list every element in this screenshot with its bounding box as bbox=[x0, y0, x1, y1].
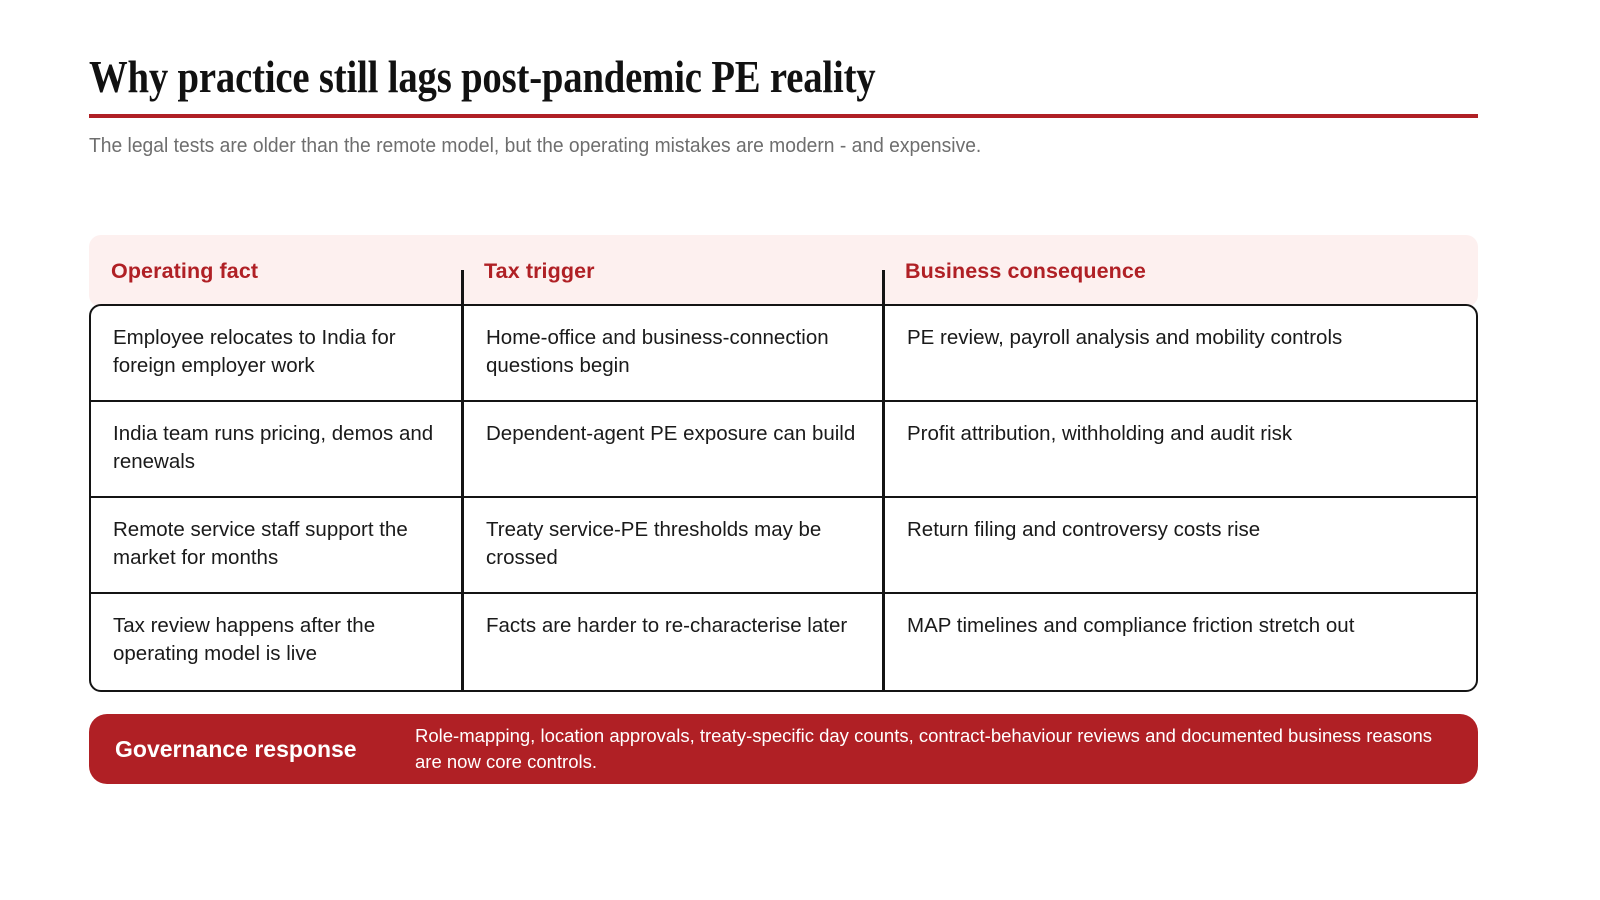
cell-business-consequence: MAP timelines and compliance friction st… bbox=[885, 594, 1480, 658]
cell-operating-fact: India team runs pricing, demos and renew… bbox=[91, 402, 464, 495]
comparison-table: Operating fact Tax trigger Business cons… bbox=[89, 235, 1478, 692]
cell-tax-trigger: Home-office and business-connection ques… bbox=[464, 306, 885, 399]
cell-operating-fact: Tax review happens after the operating m… bbox=[91, 594, 464, 687]
table-row: Remote service staff support the market … bbox=[91, 498, 1476, 594]
governance-response-label: Governance response bbox=[89, 736, 415, 763]
governance-response-text: Role-mapping, location approvals, treaty… bbox=[415, 723, 1478, 774]
page-subtitle: The legal tests are older than the remot… bbox=[89, 133, 1395, 159]
cell-operating-fact: Employee relocates to India for foreign … bbox=[91, 306, 464, 399]
slide-root: Why practice still lags post-pandemic PE… bbox=[0, 0, 1600, 900]
table-row: Employee relocates to India for foreign … bbox=[91, 306, 1476, 402]
column-header-operating-fact: Operating fact bbox=[89, 259, 462, 284]
cell-tax-trigger: Facts are harder to re-characterise late… bbox=[464, 594, 885, 658]
table-row: India team runs pricing, demos and renew… bbox=[91, 402, 1476, 498]
column-header-tax-trigger: Tax trigger bbox=[462, 259, 883, 284]
title-divider-rule bbox=[89, 114, 1478, 118]
table-body: Employee relocates to India for foreign … bbox=[89, 304, 1478, 692]
table-row: Tax review happens after the operating m… bbox=[91, 594, 1476, 690]
table-header-row: Operating fact Tax trigger Business cons… bbox=[89, 235, 1478, 307]
cell-tax-trigger: Dependent-agent PE exposure can build bbox=[464, 402, 885, 466]
cell-business-consequence: Return filing and controversy costs rise bbox=[885, 498, 1480, 562]
cell-business-consequence: Profit attribution, withholding and audi… bbox=[885, 402, 1480, 466]
column-header-business-consequence: Business consequence bbox=[883, 259, 1478, 284]
cell-business-consequence: PE review, payroll analysis and mobility… bbox=[885, 306, 1480, 370]
slide-header: Why practice still lags post-pandemic PE… bbox=[89, 52, 1478, 159]
cell-tax-trigger: Treaty service-PE thresholds may be cros… bbox=[464, 498, 885, 591]
page-title: Why practice still lags post-pandemic PE… bbox=[89, 52, 1284, 102]
cell-operating-fact: Remote service staff support the market … bbox=[91, 498, 464, 591]
governance-response-banner: Governance response Role-mapping, locati… bbox=[89, 714, 1478, 784]
